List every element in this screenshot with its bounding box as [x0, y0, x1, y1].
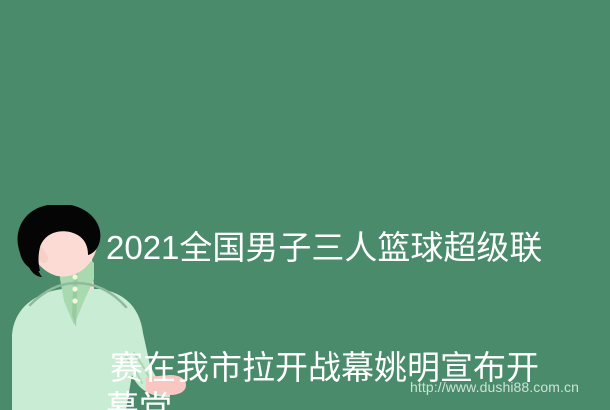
watermark-url: http://www.dushi88.com.cn: [410, 378, 579, 396]
page-title: 2021全国男子三人篮球超级联 赛在我市拉开战幕姚明宣布开幕党: [106, 148, 546, 410]
collar-buttons: [72, 274, 77, 303]
headline-line-1: 2021全国男子三人篮球超级联: [106, 228, 546, 268]
poster-canvas: 2021全国男子三人篮球超级联 赛在我市拉开战幕姚明宣布开幕党 http://w…: [0, 0, 610, 410]
